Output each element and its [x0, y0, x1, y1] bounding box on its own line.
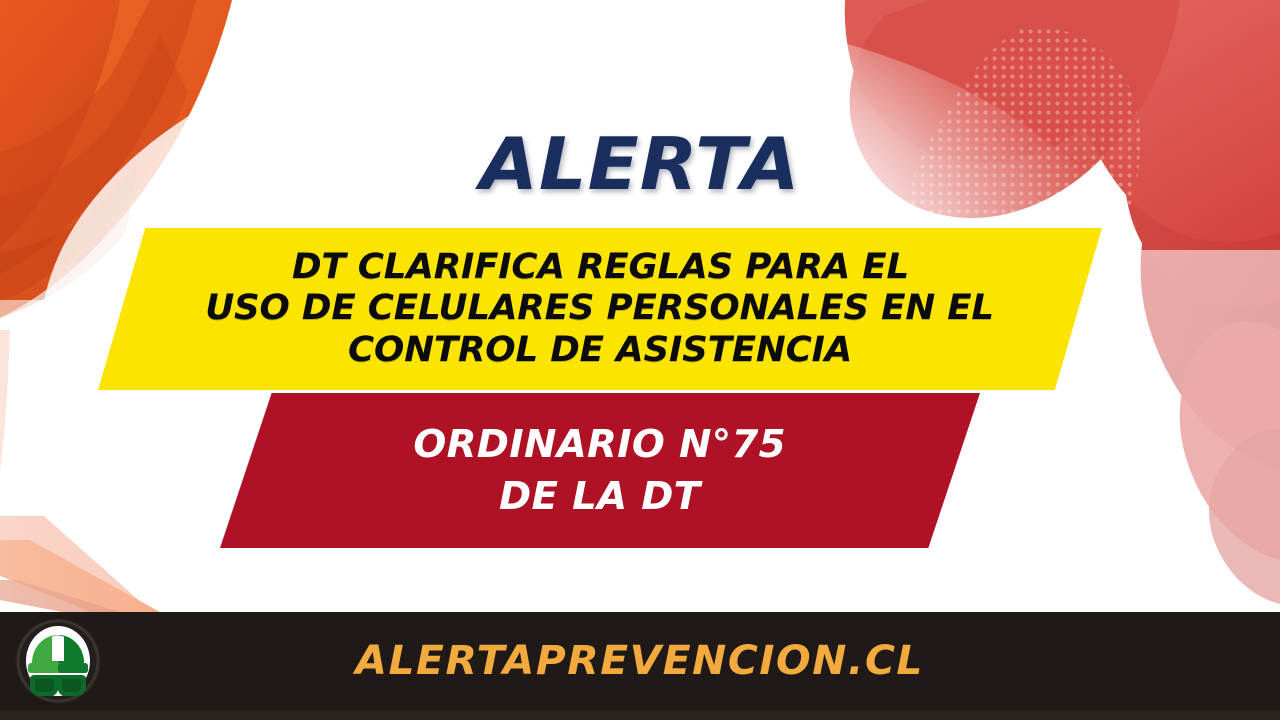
- yellow-banner-line-2: USO DE CELULARES PERSONALES EN EL: [206, 289, 995, 328]
- yellow-banner-text: DT CLARIFICA REGLAS PARA EL USO DE CELUL…: [98, 228, 1102, 390]
- safety-helmet-goggles-logo: [14, 617, 102, 705]
- red-banner-line-2: DE LA DT: [499, 476, 700, 518]
- red-banner-line-1: ORDINARIO N°75: [414, 424, 787, 466]
- yellow-banner-line-3: CONTROL DE ASISTENCIA: [348, 331, 852, 370]
- poster-canvas: ALERTA DT CLARIFICA REGLAS PARA EL USO D…: [0, 0, 1280, 720]
- red-banner: ORDINARIO N°75 DE LA DT: [220, 393, 980, 548]
- footer-url-text[interactable]: ALERTAPREVENCION.CL: [356, 638, 925, 684]
- yellow-banner: DT CLARIFICA REGLAS PARA EL USO DE CELUL…: [98, 228, 1102, 390]
- footer-url-container[interactable]: ALERTAPREVENCION.CL: [0, 612, 1280, 710]
- page-title: ALERTA: [480, 128, 801, 200]
- red-banner-text: ORDINARIO N°75 DE LA DT: [220, 393, 980, 548]
- footer-bottom-strip: [0, 710, 1280, 720]
- headline-container: ALERTA: [0, 128, 1280, 200]
- yellow-banner-line-1: DT CLARIFICA REGLAS PARA EL: [291, 248, 908, 287]
